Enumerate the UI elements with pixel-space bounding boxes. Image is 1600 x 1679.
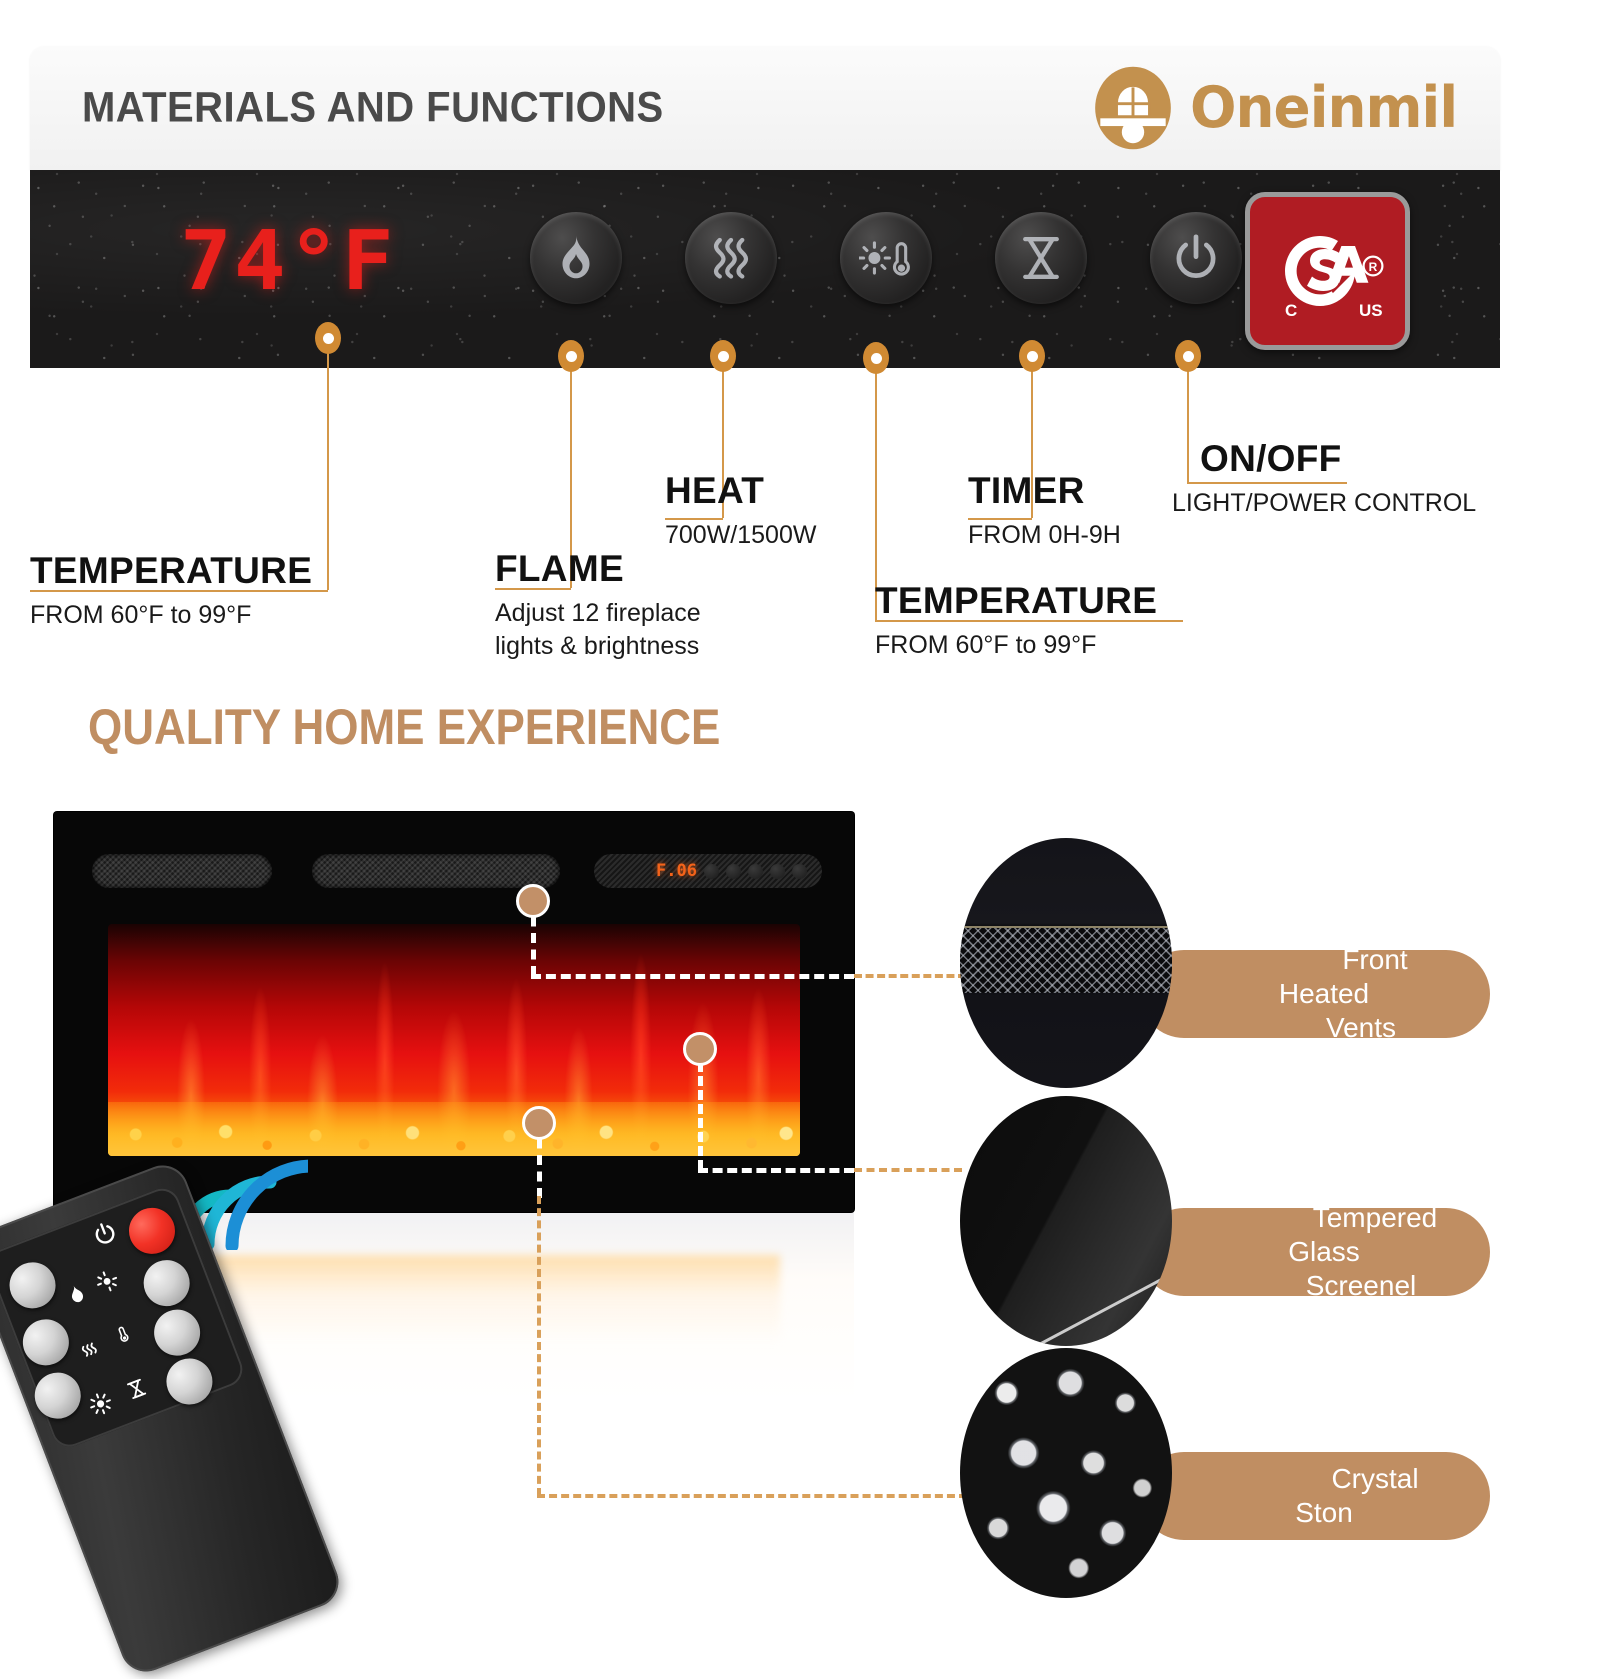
connector-glass-horizontal — [854, 1168, 962, 1172]
leader-temperature-left-vertical — [327, 352, 329, 590]
connector-vents-horizontal — [854, 974, 966, 978]
remote-button-heat[interactable] — [16, 1313, 75, 1372]
power-icon — [1169, 231, 1223, 285]
callout-subtitle: FROM 60°F to 99°F — [875, 630, 1157, 661]
flame-icon — [549, 231, 603, 285]
feature-label-pill: Front HeatedVents — [1140, 950, 1490, 1038]
connector-crystal-vertical — [537, 1196, 541, 1496]
callout-title: FLAME — [495, 550, 701, 589]
callout-subtitle: FROM 0H-9H — [968, 520, 1121, 551]
pin-flame — [558, 340, 584, 372]
temperature-display: 74°F — [180, 212, 440, 312]
fireplace-mini-button[interactable] — [748, 864, 763, 879]
callout-subtitle-line1: Adjust 12 fireplace — [495, 598, 701, 629]
timer-button[interactable] — [995, 212, 1087, 304]
hourglass-icon — [122, 1375, 150, 1403]
feature-image-crystal-stones — [960, 1348, 1172, 1598]
fireplace-mini-button[interactable] — [770, 864, 785, 879]
callout-flame: FLAME Adjust 12 fireplace lights & brigh… — [495, 550, 701, 662]
connector-crystal-horizontal — [537, 1494, 967, 1498]
fireplace-control-strip: F.06 — [594, 854, 822, 888]
callout-temperature-left: TEMPERATURE FROM 60°F to 99°F — [30, 552, 312, 631]
fireplace-vent-center — [312, 854, 560, 888]
brand-lockup: Oneinmil — [1090, 65, 1468, 151]
callout-title: ON/OFF — [1200, 440, 1476, 479]
pin-timer — [1019, 340, 1045, 372]
fireplace-vent-left — [92, 854, 272, 888]
fireplace-mini-button[interactable] — [726, 864, 741, 879]
callout-subtitle: LIGHT/POWER CONTROL — [1172, 488, 1476, 519]
header-bar: MATERIALS AND FUNCTIONS Oneinmil — [30, 46, 1500, 170]
light-burst-icon — [92, 1266, 123, 1297]
flame-button[interactable] — [530, 212, 622, 304]
connector-glass-horizontal-white — [698, 1168, 854, 1173]
csa-us-mark: US — [1359, 301, 1383, 320]
feature-label-text: Crystal Ston — [1140, 1462, 1490, 1530]
temperature-display-value: 74°F — [180, 221, 396, 303]
feature-label-pill: Crystal Ston — [1140, 1452, 1490, 1540]
arch-window-logo-icon — [1090, 65, 1176, 151]
section-heading: QUALITY HOME EXPERIENCE — [88, 698, 720, 756]
feature-label-text: Front HeatedVents — [1140, 943, 1490, 1045]
heat-button[interactable] — [685, 212, 777, 304]
feature-image-glass-panel — [960, 1096, 1172, 1346]
callout-title: HEAT — [665, 472, 816, 511]
callout-title: TEMPERATURE — [30, 552, 312, 591]
callout-subtitle: 700W/1500W — [665, 520, 816, 551]
thermometer-icon — [110, 1320, 137, 1348]
fireplace-mini-button[interactable] — [704, 864, 719, 879]
heat-waves-icon — [704, 231, 758, 285]
flame-icon — [62, 1280, 90, 1308]
pin-on-off — [1175, 340, 1201, 372]
svg-text:R: R — [1368, 260, 1377, 274]
feature-image-vent-mesh — [960, 838, 1172, 1088]
hourglass-icon — [1014, 231, 1068, 285]
power-button[interactable] — [1150, 212, 1242, 304]
callout-temperature-right: TEMPERATURE FROM 60°F to 99°F — [875, 582, 1157, 661]
callout-subtitle: FROM 60°F to 99°F — [30, 600, 312, 631]
light-temperature-button[interactable] — [840, 212, 932, 304]
connector-vents-horizontal-white — [531, 974, 854, 979]
csa-certification-badge: R C US — [1245, 192, 1410, 350]
feature-label-pill: Tempered GlassScreenel — [1140, 1208, 1490, 1296]
hotspot-front-heated-vents — [516, 884, 550, 918]
feature-crystal-ston: Crystal Ston — [0, 0, 212, 250]
connector-glass-vertical-white — [698, 1048, 703, 1170]
fireplace-display-value: F.06 — [656, 861, 697, 881]
callout-heat: HEAT 700W/1500W — [665, 472, 816, 551]
pin-temperature-left — [315, 322, 341, 354]
heat-waves-icon — [76, 1337, 104, 1365]
hotspot-crystal-ston — [522, 1106, 556, 1140]
remote-power-button[interactable] — [122, 1201, 181, 1260]
infographic-root: MATERIALS AND FUNCTIONS Oneinmil 74°F — [0, 0, 1600, 1600]
hotspot-tempered-glass — [683, 1032, 717, 1066]
callout-subtitle-line2: lights & brightness — [495, 631, 701, 662]
brand-wordmark: Oneinmil — [1190, 75, 1457, 141]
pin-temperature-right — [863, 342, 889, 374]
callout-title: TEMPERATURE — [875, 582, 1157, 621]
pin-heat — [710, 340, 736, 372]
csa-c-mark: C — [1285, 301, 1297, 320]
feature-label-text: Tempered GlassScreenel — [1140, 1201, 1490, 1303]
callout-on-off: ON/OFF LIGHT/POWER CONTROL — [1200, 440, 1476, 519]
sun-thermometer-icon — [859, 231, 913, 285]
remote-button-thermostat[interactable] — [147, 1303, 206, 1362]
callout-title: TIMER — [968, 472, 1121, 511]
leader-on-off-vertical — [1187, 370, 1189, 482]
remote-button-light[interactable] — [137, 1253, 196, 1312]
callout-timer: TIMER FROM 0H-9H — [968, 472, 1121, 551]
sun-icon — [85, 1388, 116, 1419]
fireplace-mini-button[interactable] — [792, 864, 807, 879]
control-panel: 74°F — [30, 170, 1500, 368]
power-icon — [88, 1217, 122, 1251]
remote-button-flame[interactable] — [3, 1256, 62, 1315]
